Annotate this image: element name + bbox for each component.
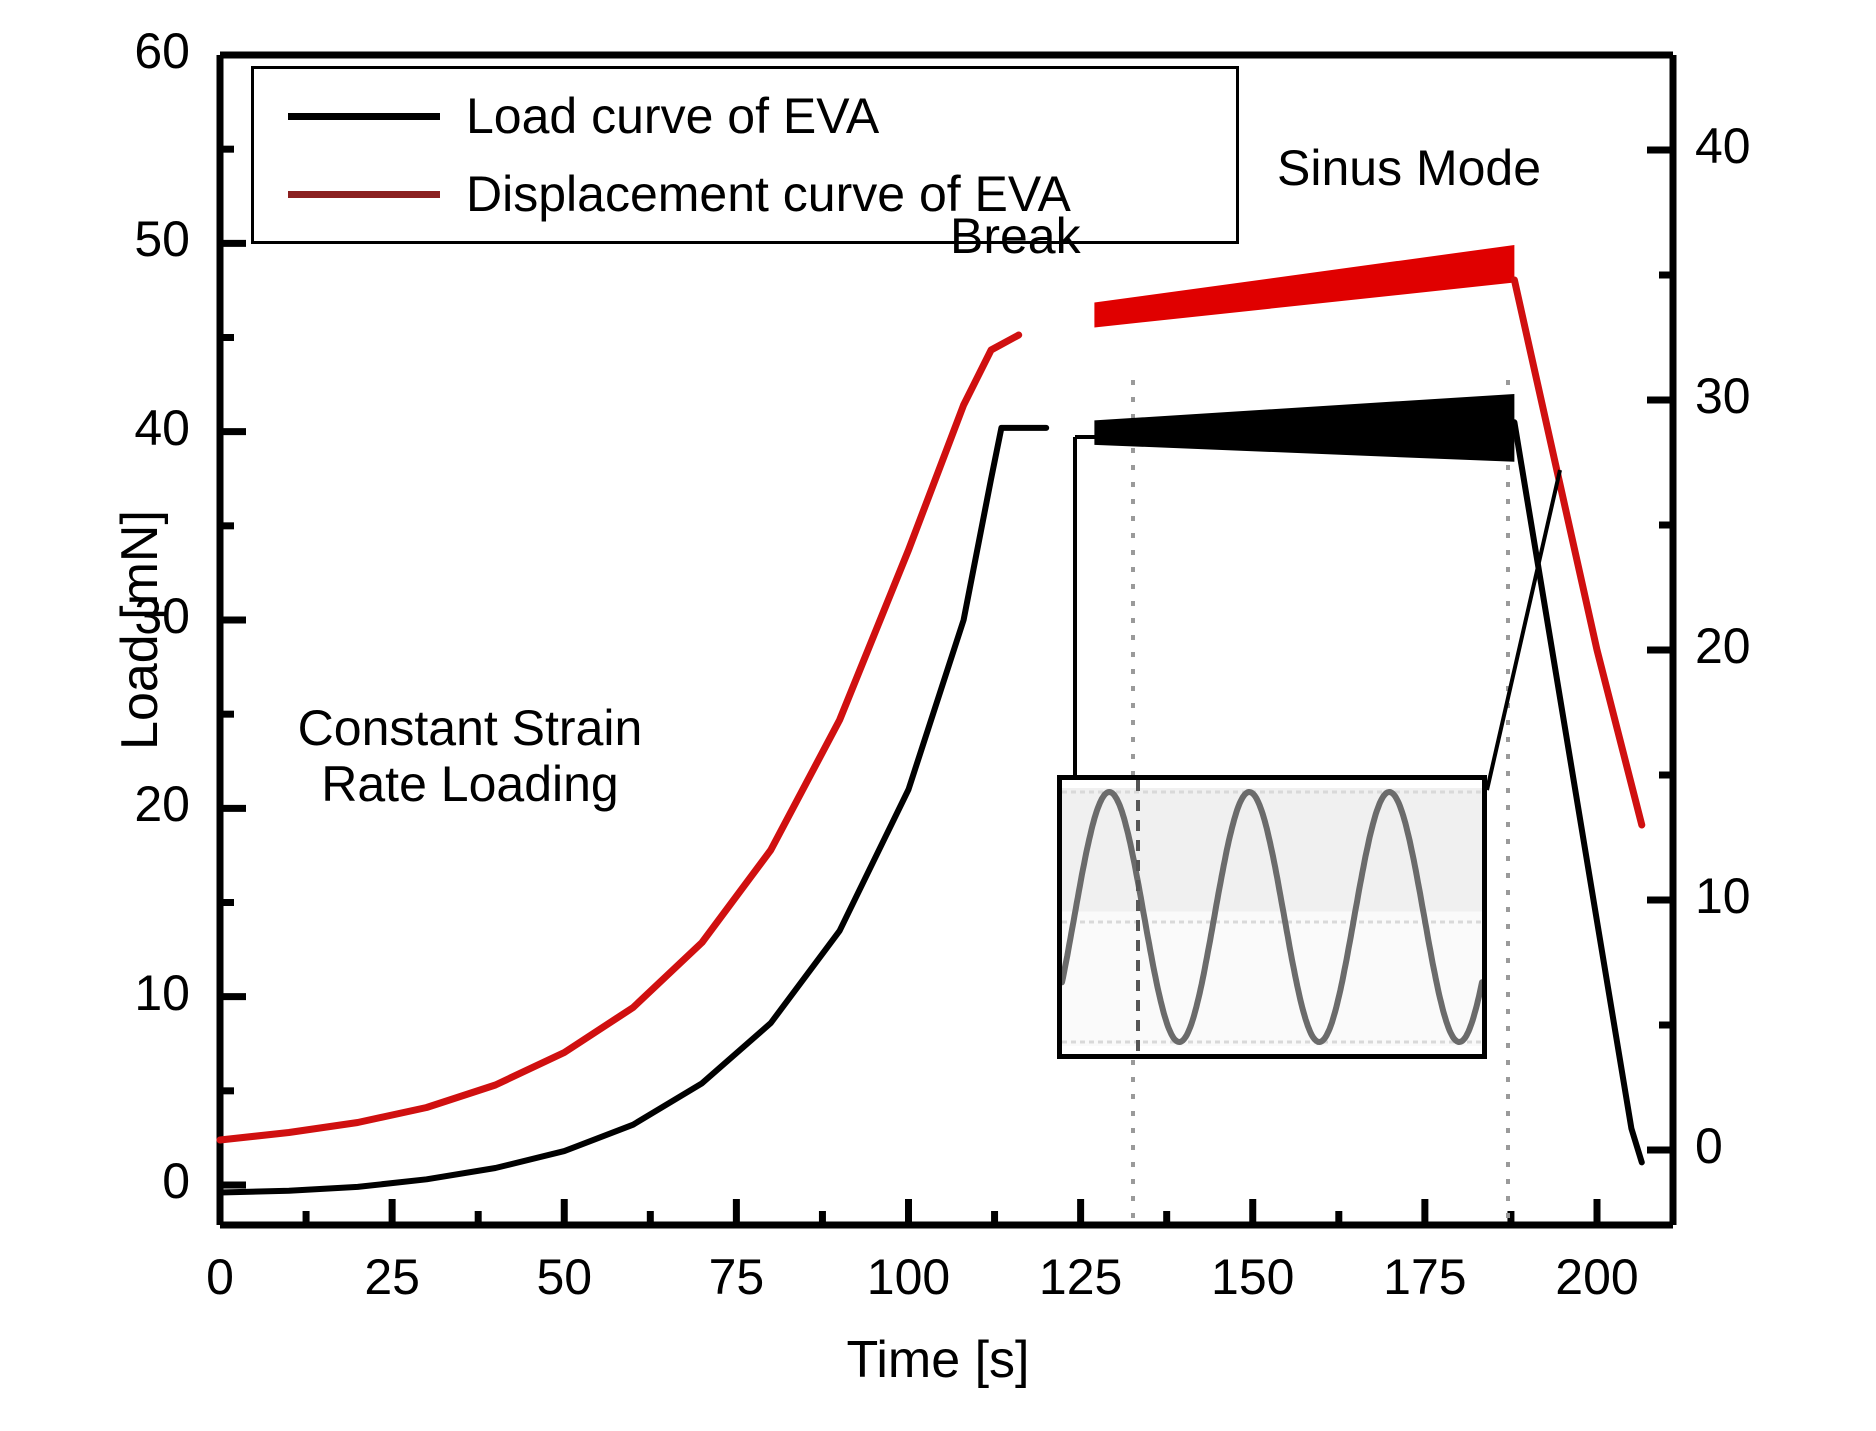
legend[interactable]: Load curve of EVA Displacement curve of … bbox=[251, 66, 1239, 244]
x-tick-125: 125 bbox=[1001, 1248, 1161, 1306]
legend-entry-displacement[interactable]: Displacement curve of EVA bbox=[266, 155, 1236, 233]
y-right-tick-0: 0 bbox=[1695, 1117, 1845, 1175]
x-tick-25: 25 bbox=[312, 1248, 472, 1306]
load-oscillation-band bbox=[1094, 394, 1514, 462]
x-tick-150: 150 bbox=[1173, 1248, 1333, 1306]
legend-swatch-load bbox=[288, 113, 440, 120]
y-axis-right-ticks bbox=[1647, 150, 1673, 1150]
x-tick-75: 75 bbox=[656, 1248, 816, 1306]
y-left-tick-40: 40 bbox=[40, 399, 190, 457]
x-tick-0: 0 bbox=[140, 1248, 300, 1306]
annotation-line-1: Constant Strain bbox=[240, 700, 700, 756]
y-left-tick-0: 0 bbox=[40, 1152, 190, 1210]
annotation-sinus-mode: Sinus Mode bbox=[1277, 140, 1541, 196]
x-tick-200: 200 bbox=[1517, 1248, 1677, 1306]
legend-entry-load[interactable]: Load curve of EVA bbox=[266, 77, 1236, 155]
y-left-tick-20: 20 bbox=[40, 775, 190, 833]
y-left-tick-10: 10 bbox=[40, 964, 190, 1022]
x-axis-ticks bbox=[220, 1199, 1597, 1225]
displacement-oscillation-band bbox=[1094, 245, 1514, 328]
annotation-constant-strain-rate-loading: Constant Strain Rate Loading bbox=[240, 700, 700, 812]
x-tick-175: 175 bbox=[1345, 1248, 1505, 1306]
y-left-tick-30: 30 bbox=[40, 587, 190, 645]
annotation-line-2: Rate Loading bbox=[240, 756, 700, 812]
legend-label-load: Load curve of EVA bbox=[466, 87, 879, 145]
x-tick-100: 100 bbox=[829, 1248, 989, 1306]
y-left-tick-60: 60 bbox=[40, 22, 190, 80]
y-left-tick-50: 50 bbox=[40, 210, 190, 268]
sinus-waveform-inset bbox=[1057, 775, 1487, 1059]
y-axis-right-title: Displacement [µm] bbox=[1870, 370, 1876, 890]
annotation-break: Break bbox=[950, 208, 1081, 264]
legend-swatch-displacement bbox=[288, 191, 440, 198]
chart-figure: Load curve of EVA Displacement curve of … bbox=[0, 0, 1876, 1431]
inset-leader-lines bbox=[1075, 437, 1560, 790]
y-right-tick-20: 20 bbox=[1695, 617, 1845, 675]
inset-sine-svg bbox=[1062, 780, 1482, 1054]
y-right-tick-10: 10 bbox=[1695, 867, 1845, 925]
inset-sine-path bbox=[1062, 792, 1482, 1042]
y-right-tick-40: 40 bbox=[1695, 117, 1845, 175]
x-axis-title: Time [s] bbox=[0, 1330, 1876, 1390]
x-tick-50: 50 bbox=[484, 1248, 644, 1306]
y-axis-left-ticks bbox=[220, 55, 246, 1185]
y-right-tick-30: 30 bbox=[1695, 367, 1845, 425]
